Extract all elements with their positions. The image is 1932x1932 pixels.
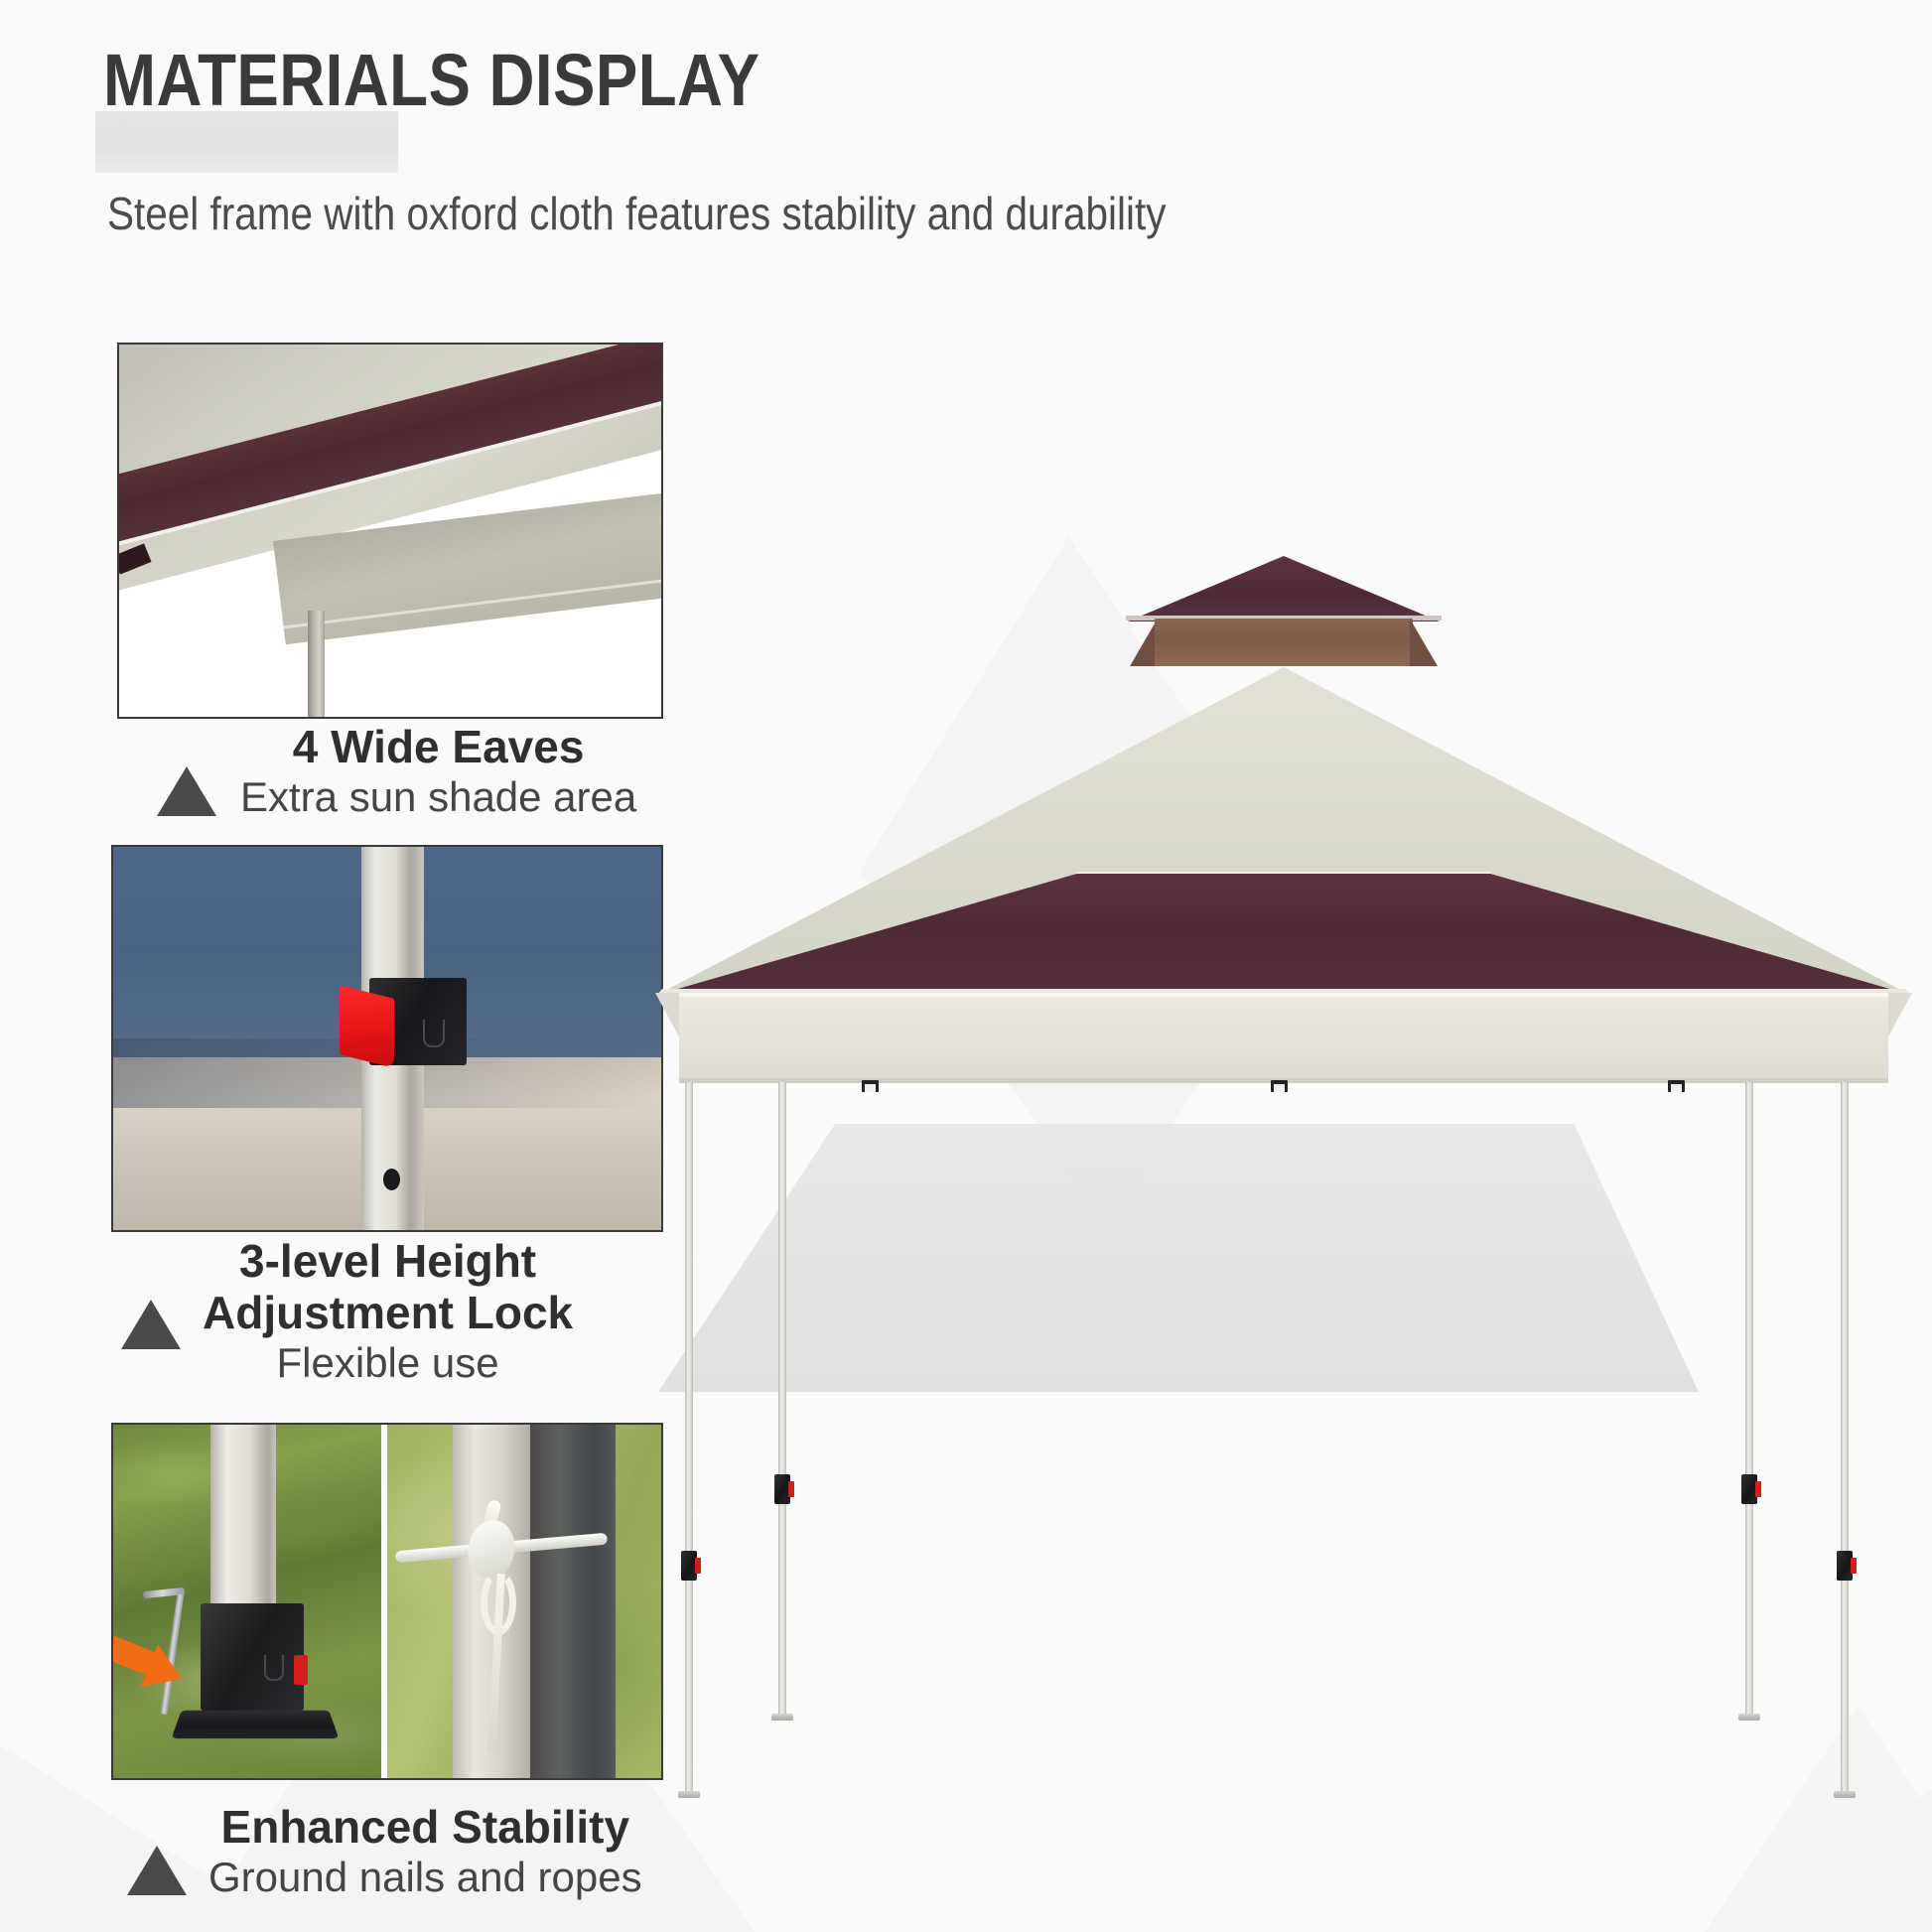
- caption-title-line1: 3-level Height: [239, 1236, 536, 1288]
- roof-vent-band: [1155, 619, 1413, 666]
- leg-foot-plate: [771, 1714, 793, 1721]
- foot-base-plate-detail: [172, 1711, 340, 1738]
- ground-nail-stake-icon: [149, 1578, 197, 1713]
- valance-bracket: [862, 1080, 879, 1092]
- vent-side-left: [1130, 619, 1158, 666]
- triangle-up-icon: [121, 1300, 181, 1349]
- gazebo-pole-dark-detail: [530, 1425, 616, 1778]
- photo-wide-eaves: [117, 343, 663, 719]
- red-lock-tab-detail: [294, 1655, 308, 1685]
- leg-foot-plate: [1738, 1714, 1760, 1721]
- leg-height-lock: [681, 1551, 697, 1581]
- caption-title-line2: Adjustment Lock: [203, 1288, 573, 1339]
- leg-height-lock: [1837, 1551, 1853, 1581]
- caption-subtitle: Flexible use: [277, 1339, 499, 1387]
- guy-rope-photo-half: [381, 1425, 661, 1778]
- page-title: MATERIALS DISPLAY: [103, 44, 759, 117]
- caption-subtitle: Extra sun shade area: [240, 773, 636, 821]
- gazebo-leg: [1745, 1082, 1753, 1718]
- caption-enhanced-stability: Enhanced Stability Ground nails and rope…: [127, 1802, 642, 1901]
- two-tier-roof-vent-cap: [1128, 556, 1440, 621]
- vent-side-right: [1410, 619, 1438, 666]
- photo-split-divider: [381, 1425, 387, 1778]
- triangle-up-icon: [157, 766, 216, 816]
- gazebo-leg: [685, 1082, 693, 1795]
- valance-top-edge: [679, 993, 1888, 997]
- valance-corner-right: [1886, 993, 1912, 1040]
- valance-bracket: [1668, 1080, 1685, 1092]
- photo-enhanced-stability: [111, 1423, 663, 1780]
- canopy-valance: [679, 993, 1888, 1082]
- frame-pole-detail: [308, 611, 325, 719]
- leg-foot-plate: [678, 1791, 700, 1798]
- red-lock-lever-detail: [340, 985, 394, 1068]
- product-illustration-gazebo: [635, 556, 1926, 1608]
- leg-height-lock: [1741, 1474, 1757, 1504]
- leg-foot-housing-detail: [201, 1603, 304, 1711]
- photo-height-adjustment-lock: [111, 845, 663, 1232]
- leg-height-lock: [774, 1474, 790, 1504]
- gazebo-pole-detail: [210, 1425, 276, 1619]
- triangle-up-icon: [127, 1846, 187, 1895]
- valance-corner-left: [655, 993, 681, 1040]
- valance-bracket: [1271, 1080, 1288, 1092]
- ground-shadow: [658, 1124, 1699, 1392]
- caption-height-adjustment-lock: 3-level Height Adjustment Lock Flexible …: [121, 1236, 573, 1387]
- leg-foot-plate: [1834, 1791, 1856, 1798]
- page-subtitle: Steel frame with oxford cloth features s…: [107, 191, 1167, 236]
- caption-subtitle: Ground nails and ropes: [208, 1854, 642, 1901]
- caption-title: 4 Wide Eaves: [293, 722, 585, 773]
- caption-title: Enhanced Stability: [221, 1802, 630, 1854]
- ground-stake-photo-half: [113, 1425, 381, 1778]
- gazebo-leg: [778, 1082, 786, 1718]
- pole-adjustment-hole: [383, 1169, 400, 1190]
- caption-wide-eaves: 4 Wide Eaves Extra sun shade area: [157, 722, 636, 821]
- gazebo-leg: [1841, 1082, 1849, 1795]
